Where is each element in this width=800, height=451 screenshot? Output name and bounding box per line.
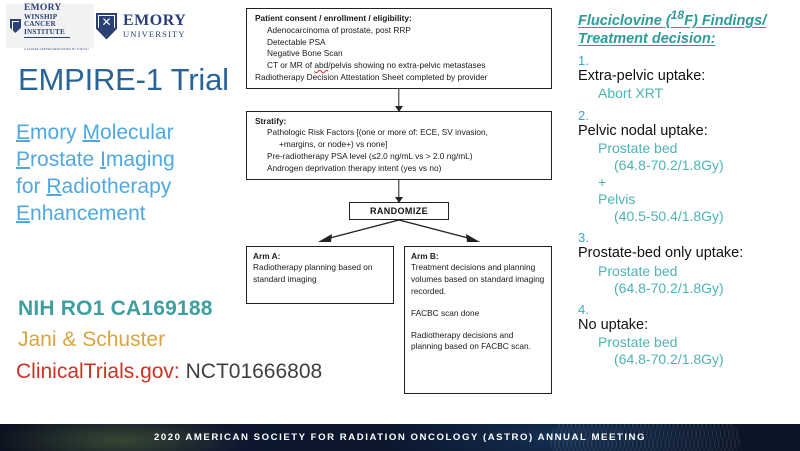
- eligibility-header: Patient consent / enrollment / eligibili…: [253, 13, 545, 25]
- finding-question: Extra-pelvic uptake:: [578, 68, 796, 85]
- conference-banner: 2020 AMERICAN SOCIETY FOR RADIATION ONCO…: [0, 424, 800, 451]
- finding-dose: (64.8-70.2/1.8Gy): [578, 280, 796, 297]
- connector-eligibility-to-stratify: [246, 89, 552, 111]
- finding-question: No uptake:: [578, 317, 796, 334]
- finding-dose: (40.5-50.4/1.8Gy): [578, 208, 796, 225]
- arm-b-text: Treatment decisions and planning volumes…: [411, 262, 545, 297]
- acronym-line-2: Prostate Imaging: [16, 147, 256, 174]
- arm-a-container: Arm A: Radiotherapy planning based on st…: [246, 246, 394, 394]
- findings-heading-line1: Fluciclovine (18F) Findings/: [578, 8, 796, 30]
- arm-b-container: Arm B: Treatment decisions and planning …: [404, 246, 552, 394]
- finding-item-3: 3. Prostate-bed only uptake: Prostate be…: [578, 230, 796, 297]
- finding-question: Prostate-bed only uptake:: [578, 245, 796, 262]
- finding-answer: Prostate bed: [578, 140, 796, 157]
- grant-number: NIH RO1 CA169188: [18, 297, 213, 321]
- emory-shield-icon: [96, 13, 117, 40]
- randomize-row: RANDOMIZE: [246, 202, 552, 220]
- findings-panel: Fluciclovine (18F) Findings/ Treatment d…: [578, 8, 796, 368]
- authors: Jani & Schuster: [18, 328, 165, 352]
- finding-answer: Prostate bed: [578, 263, 796, 280]
- finding-answer: Abort XRT: [578, 85, 796, 102]
- spacer: [411, 320, 545, 330]
- winship-cancer-institute-logo: EMORY WINSHIP CANCER INSTITUTE A CANCER …: [6, 4, 94, 48]
- stratify-item: Pre-radiotherapy PSA level (≤2.0 ng/mL v…: [253, 151, 545, 163]
- finding-item-4: 4. No uptake: Prostate bed (64.8-70.2/1.…: [578, 302, 796, 369]
- arrow-head-icon: [395, 197, 403, 203]
- winship-tagline: A CANCER CENTER DESIGNATED BY THE NCI: [24, 48, 89, 51]
- winship-emory-word: EMORY: [24, 3, 62, 13]
- spellcheck-flagged-word: abd: [314, 60, 328, 70]
- findings-heading-line2: Treatment decision:: [578, 30, 796, 48]
- finding-number: 1.: [578, 53, 796, 68]
- eligibility-item: Adenocarcinoma of prostate, post RRP: [253, 25, 545, 37]
- eligibility-item: Negative Bone Scan: [253, 48, 545, 60]
- arrow-head-icon: [395, 106, 403, 112]
- stratify-item: Pathologic Risk Factors [(one or more of…: [253, 127, 545, 139]
- finding-number: 3.: [578, 230, 796, 245]
- finding-answer: Prostate bed: [578, 334, 796, 351]
- split-arrows-icon: [246, 220, 552, 246]
- arm-b-text: Radiotherapy decisions and planning base…: [411, 330, 545, 354]
- eligibility-item: Detectable PSA: [253, 37, 545, 49]
- winship-divider: [24, 37, 70, 38]
- eligibility-box: Patient consent / enrollment / eligibili…: [246, 8, 552, 89]
- connector-stratify-to-randomize: [246, 180, 552, 202]
- ct-line-pre: CT or MR of: [267, 60, 314, 70]
- randomize-box: RANDOMIZE: [349, 202, 449, 220]
- acronym-line-1: Emory Molecular: [16, 120, 256, 147]
- stratify-item: Androgen deprivation therapy intent (yes…: [253, 163, 545, 175]
- finding-item-2: 2. Pelvic nodal uptake: Prostate bed (64…: [578, 108, 796, 226]
- ct-line-post: /pelvis showing no extra-pelvic metastas…: [328, 60, 485, 70]
- acronym-line-4: Enhancement: [16, 201, 256, 228]
- winship-line3: INSTITUTE: [24, 29, 89, 36]
- eligibility-attestation: Radiotherapy Decision Attestation Sheet …: [253, 72, 545, 84]
- spacer: [411, 298, 545, 308]
- finding-number: 2.: [578, 108, 796, 123]
- stratify-item-cont: +margins, or node+) vs none]: [253, 139, 545, 151]
- stratify-header: Stratify:: [253, 116, 545, 128]
- registry-label: ClinicalTrials.gov:: [16, 360, 180, 383]
- arm-a-header: Arm A:: [253, 251, 387, 263]
- banner-text: 2020 AMERICAN SOCIETY FOR RADIATION ONCO…: [0, 424, 800, 451]
- finding-question: Pelvic nodal uptake:: [578, 123, 796, 140]
- trial-flowchart: Patient consent / enrollment / eligibili…: [246, 8, 552, 394]
- finding-dose: (64.8-70.2/1.8Gy): [578, 157, 796, 174]
- arm-b-header: Arm B:: [411, 251, 545, 263]
- winship-shield-icon: [10, 19, 21, 33]
- acronym-line-3: for Radiotherapy: [16, 174, 256, 201]
- arm-b-box: Arm B: Treatment decisions and planning …: [404, 246, 552, 394]
- finding-dose: (64.8-70.2/1.8Gy): [578, 351, 796, 368]
- stratify-box: Stratify: Pathologic Risk Factors [(one …: [246, 111, 552, 180]
- eligibility-imaging-item: CT or MR of abd/pelvis showing no extra-…: [253, 60, 545, 72]
- logo-row: EMORY WINSHIP CANCER INSTITUTE A CANCER …: [0, 0, 260, 52]
- finding-item-1: 1. Extra-pelvic uptake: Abort XRT: [578, 53, 796, 102]
- trial-acronym-expansion: Emory Molecular Prostate Imaging for Rad…: [16, 120, 256, 228]
- arm-a-text: Radiotherapy planning based on standard …: [253, 262, 387, 286]
- finding-number: 4.: [578, 302, 796, 317]
- randomize-split-arrows: [246, 220, 552, 246]
- slide-canvas: EMORY WINSHIP CANCER INSTITUTE A CANCER …: [0, 0, 800, 451]
- findings-heading: Fluciclovine (18F) Findings/ Treatment d…: [578, 8, 796, 48]
- treatment-arms: Arm A: Radiotherapy planning based on st…: [246, 246, 552, 394]
- emory-university-name: EMORY: [123, 13, 186, 30]
- arm-b-text: FACBC scan done: [411, 308, 545, 320]
- emory-university-sub: UNIVERSITY: [123, 30, 186, 39]
- page-title: EMPIRE-1 Trial: [18, 62, 229, 98]
- finding-plus: +: [578, 174, 796, 191]
- arm-a-box: Arm A: Radiotherapy planning based on st…: [246, 246, 394, 304]
- emory-university-logo: EMORY UNIVERSITY: [96, 6, 192, 46]
- finding-answer: Pelvis: [578, 191, 796, 208]
